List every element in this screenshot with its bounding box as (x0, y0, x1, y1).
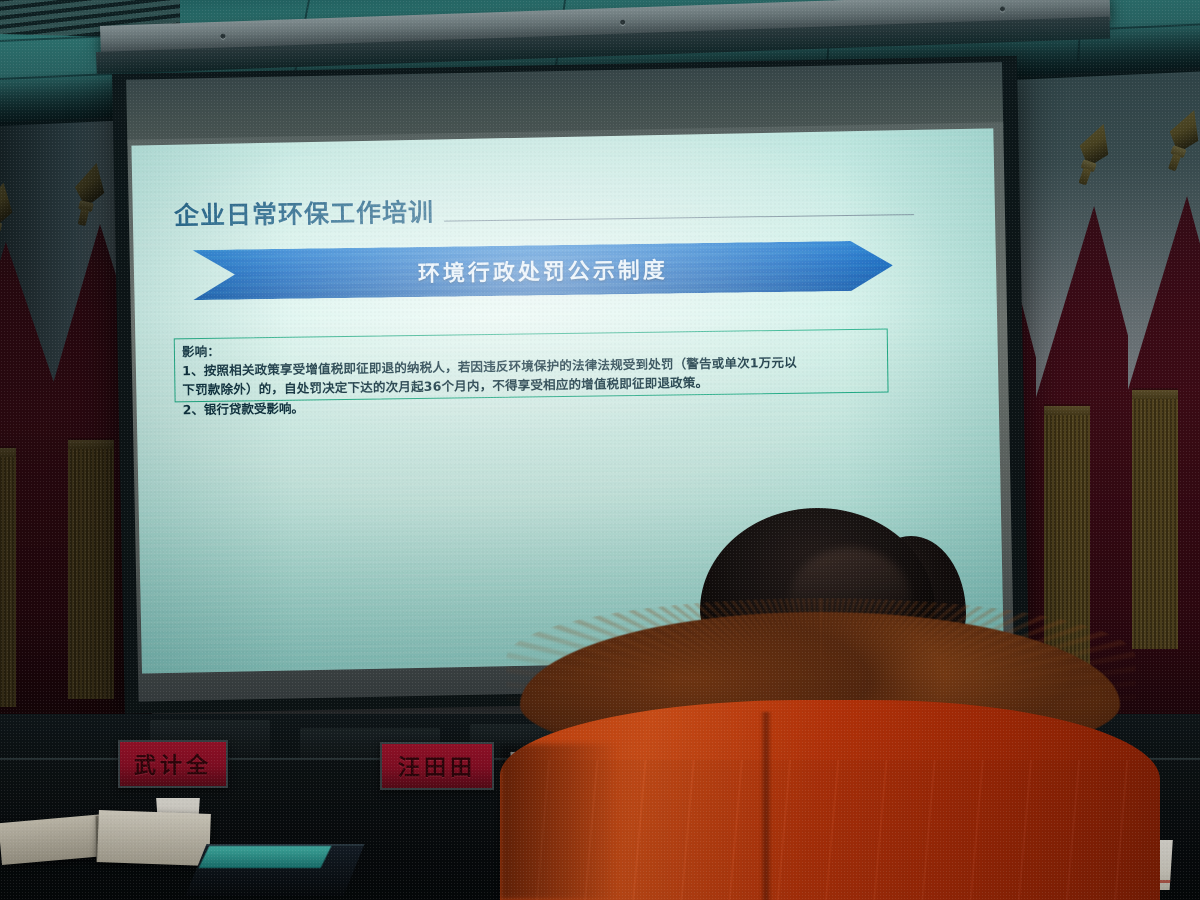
impact-line-3: 2、银行贷款受影响。 (183, 399, 304, 420)
housing-screw (620, 20, 625, 25)
slide-header-title: 企业日常环保工作培训 (174, 193, 434, 233)
jacket-center-seam (760, 712, 772, 900)
slide-header-rule (444, 214, 914, 222)
device-screen-glow (199, 846, 332, 868)
open-notebook-right-page (97, 810, 211, 866)
slide-banner: 环境行政处罚公示制度 (193, 240, 894, 300)
housing-screw (1000, 6, 1005, 11)
flag-finial-icon (67, 159, 110, 226)
nameplate-1-text: 武计全 (134, 748, 212, 780)
housing-screw (220, 34, 225, 39)
flag-finial-icon (0, 180, 18, 247)
flag-tassel (68, 449, 114, 699)
nameplate-2: 汪田田 (380, 742, 494, 790)
banner-title: 环境行政处罚公示制度 (418, 253, 668, 288)
banner-ribbon-shape: 环境行政处罚公示制度 (193, 240, 894, 300)
jacket-shadow (500, 744, 620, 900)
flag-right-3 (1124, 140, 1200, 740)
impact-text-block: 影响： 1、按照相关政策享受增值税即征即退的纳税人，若因违反环境保护的法律法规受… (182, 332, 895, 399)
nameplate-2-text: 汪田田 (398, 750, 476, 782)
slide-header: 企业日常环保工作培训 (174, 186, 914, 232)
flag-tassel (0, 457, 16, 707)
flag-tassel (1132, 399, 1178, 649)
nameplate-1: 武计全 (118, 740, 228, 788)
meeting-room-photo: 企业日常环保工作培训 环境行政处罚公示制度 影响： 1、按照相关政策享受增值税即… (0, 0, 1200, 900)
